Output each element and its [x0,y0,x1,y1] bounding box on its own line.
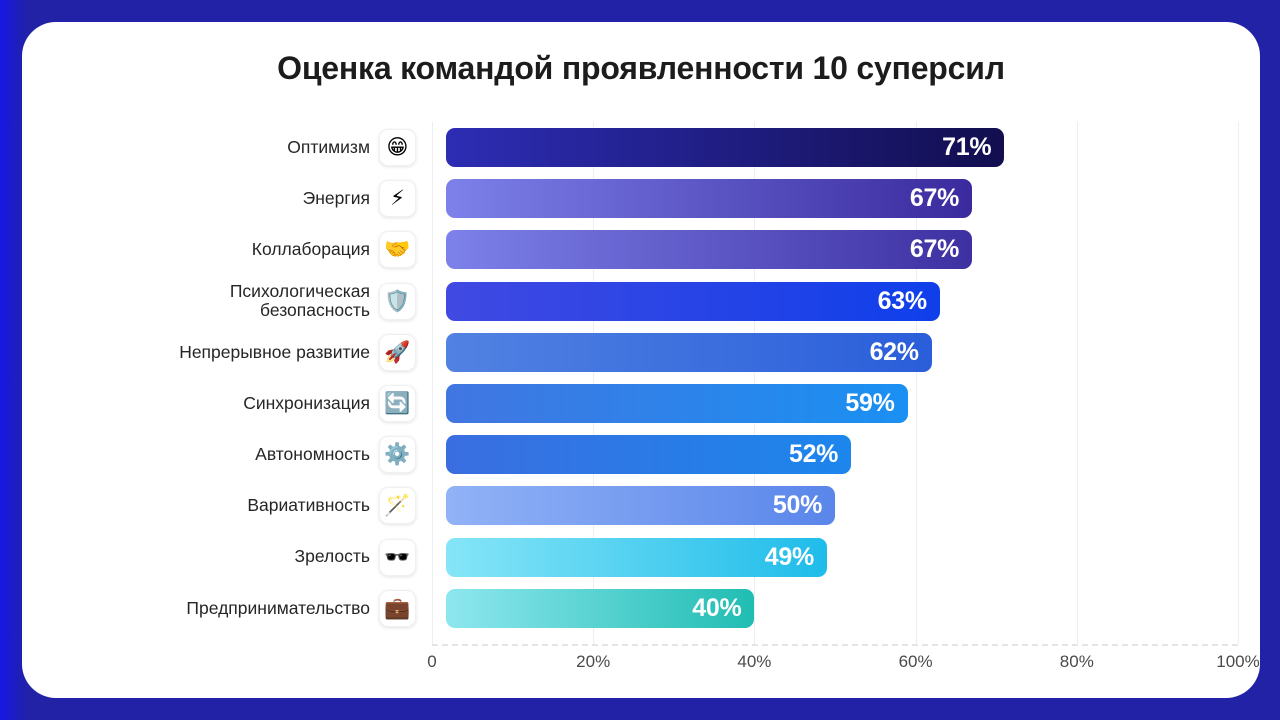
x-axis-baseline [432,644,1238,646]
shield-icon: 🛡️ [379,283,416,320]
bar-value-label: 59% [845,389,894,418]
bar-value-label: 50% [773,491,822,520]
category-label: Автономность [255,445,370,465]
chart-card: Оценка командой проявленности 10 суперси… [22,22,1260,698]
sync-arrows-icon: 🔄 [379,385,416,422]
x-tick-label: 0 [427,652,436,672]
category-row: Вариативность🪄 [46,480,416,531]
category-label: Энергия [303,189,370,209]
bar-row[interactable]: 67% [432,173,1238,224]
x-tick-label: 60% [899,652,933,672]
category-label: Непрерывное развитие [179,343,370,363]
page-title: Оценка командой проявленности 10 суперси… [22,50,1260,87]
bar[interactable]: 50% [446,486,835,525]
bar[interactable]: 67% [446,179,972,218]
bar-chart: Оптимизм😁Энергия⚡Коллаборация🤝Психологич… [46,122,1236,682]
category-row: Энергия⚡ [46,173,416,224]
bar-value-label: 62% [870,338,919,367]
bar-row[interactable]: 59% [432,378,1238,429]
bar-value-label: 67% [910,235,959,264]
bar-value-label: 63% [878,287,927,316]
bar[interactable]: 63% [446,282,940,321]
category-row: Коллаборация🤝 [46,224,416,275]
category-label: Синхронизация [243,394,370,414]
bar-value-label: 71% [942,133,991,162]
bar-value-label: 67% [910,184,959,213]
category-label: Оптимизм [287,138,370,158]
bar[interactable]: 71% [446,128,1004,167]
bar-row[interactable]: 49% [432,532,1238,583]
bar-row[interactable]: 52% [432,429,1238,480]
category-label: Предпринимательство [186,599,370,619]
plot-area: 71%67%67%63%62%59%52%50%49%40% 020%40%60… [432,122,1238,682]
category-row: Предпринимательство💼 [46,583,416,634]
category-row: Оптимизм😁 [46,122,416,173]
grinning-face-icon: 😁 [379,129,416,166]
bar-value-label: 40% [692,594,741,623]
category-row: Зрелость🕶️ [46,532,416,583]
bar[interactable]: 40% [446,589,754,628]
category-row: Синхронизация🔄 [46,378,416,429]
bar-row[interactable]: 67% [432,224,1238,275]
bar-row[interactable]: 50% [432,480,1238,531]
x-tick-label: 20% [576,652,610,672]
category-label: Психологическая безопасность [230,282,370,321]
sunglasses-icon: 🕶️ [379,539,416,576]
bar-row[interactable]: 63% [432,276,1238,327]
category-label-column: Оптимизм😁Энергия⚡Коллаборация🤝Психологич… [46,122,416,644]
bar[interactable]: 67% [446,230,972,269]
handshake-icon: 🤝 [379,231,416,268]
bar[interactable]: 62% [446,333,932,372]
category-label: Вариативность [247,496,370,516]
bar-value-label: 49% [765,543,814,572]
gear-icon: ⚙️ [379,436,416,473]
x-tick-label: 80% [1060,652,1094,672]
bar-series: 71%67%67%63%62%59%52%50%49%40% [432,122,1238,644]
magic-wand-icon: 🪄 [379,487,416,524]
x-tick-label: 100% [1216,652,1259,672]
rocket-icon: 🚀 [379,334,416,371]
bar-row[interactable]: 71% [432,122,1238,173]
gridline [1238,122,1239,644]
bar-row[interactable]: 40% [432,583,1238,634]
briefcase-icon: 💼 [379,590,416,627]
category-label: Коллаборация [252,240,370,260]
x-tick-label: 40% [737,652,771,672]
bar-value-label: 52% [789,440,838,469]
bar[interactable]: 52% [446,435,851,474]
category-row: Психологическая безопасность🛡️ [46,276,416,327]
bar-row[interactable]: 62% [432,327,1238,378]
bar[interactable]: 59% [446,384,908,423]
category-label: Зрелость [295,547,370,567]
x-axis-tick-labels: 020%40%60%80%100% [432,652,1238,682]
category-row: Автономность⚙️ [46,429,416,480]
lightning-bolt-icon: ⚡ [379,180,416,217]
category-row: Непрерывное развитие🚀 [46,327,416,378]
bar[interactable]: 49% [446,538,827,577]
